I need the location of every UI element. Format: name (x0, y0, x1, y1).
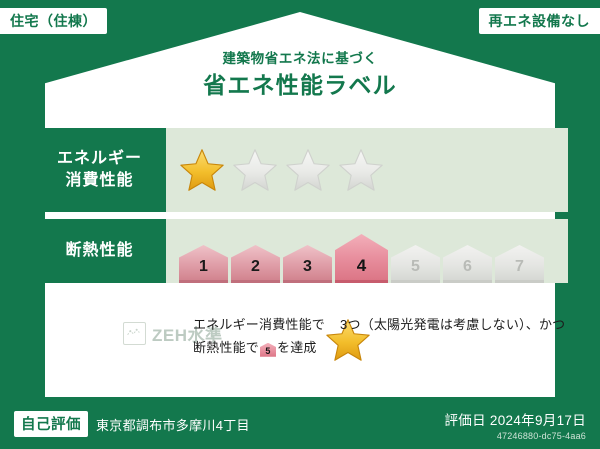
energy-label-line1: エネルギー (57, 148, 142, 170)
insulation-level-2: 2 (231, 245, 280, 283)
star-icon (325, 317, 340, 332)
energy-consumption-value (166, 128, 568, 212)
footer-right: 評価日 2024年9月17日 47246880-dc75-4aa6 (444, 409, 586, 441)
insulation-performance-label: 断熱性能 (33, 219, 166, 283)
building-type-tag: 住宅（住棟） (0, 8, 107, 34)
title-subtitle: 建築物省エネ法に基づく (0, 52, 600, 67)
zeh-house-icon (123, 322, 146, 345)
zeh-description: エネルギー消費性能で3つ（太陽光発電は考慮しない）、かつ断熱性能で5を達成 (193, 312, 568, 360)
insulation-level-value: 4 (357, 256, 366, 276)
insulation-level-1: 1 (179, 245, 228, 283)
zeh-desc-part1: エネルギー消費性能で (193, 317, 325, 332)
insulation-performance-value: 1234567 (166, 219, 568, 283)
insulation-level-6: 6 (443, 245, 492, 283)
insulation-level-value: 2 (251, 258, 260, 276)
property-address: 東京都調布市多摩川4丁目 (96, 415, 250, 434)
label-title-block: 建築物省エネ法に基づく 省エネ性能ラベル (0, 52, 600, 101)
footer-left: 自己評価 東京都調布市多摩川4丁目 (14, 411, 250, 437)
insulation-level-4: 4 (335, 234, 388, 283)
self-evaluation-badge: 自己評価 (14, 411, 88, 437)
zeh-desc-level-badge: 5 (260, 343, 276, 357)
insulation-level-scale: 1234567 (166, 219, 544, 283)
energy-label-line2: 消費性能 (65, 170, 133, 192)
zeh-mark: ZEH水準 (33, 312, 193, 346)
energy-consumption-row: エネルギー 消費性能 (33, 128, 568, 212)
insulation-level-5: 5 (391, 245, 440, 283)
insulation-level-3: 3 (283, 245, 332, 283)
energy-consumption-label: エネルギー 消費性能 (33, 128, 166, 212)
zeh-desc-part3: を達成 (277, 340, 317, 355)
insulation-label-text: 断熱性能 (65, 240, 133, 262)
insulation-level-value: 3 (303, 258, 312, 276)
insulation-level-value: 6 (463, 258, 472, 276)
star-rating (166, 147, 384, 193)
zeh-section: ZEH水準 エネルギー消費性能で3つ（太陽光発電は考慮しない）、かつ断熱性能で5… (33, 312, 568, 360)
insulation-level-value: 1 (199, 258, 208, 276)
renewable-equipment-tag: 再エネ設備なし (479, 8, 600, 34)
energy-performance-label: 住宅（住棟） 再エネ設備なし 建築物省エネ法に基づく 省エネ性能ラベル エネルギ… (0, 0, 600, 449)
page-title: 省エネ性能ラベル (0, 70, 600, 101)
insulation-level-7: 7 (495, 245, 544, 283)
evaluation-date: 評価日 2024年9月17日 (444, 409, 586, 429)
insulation-level-value: 7 (515, 258, 524, 276)
insulation-performance-row: 断熱性能 1234567 (33, 219, 568, 283)
evaluation-id: 47246880-dc75-4aa6 (444, 431, 586, 441)
insulation-level-value: 5 (411, 258, 420, 276)
